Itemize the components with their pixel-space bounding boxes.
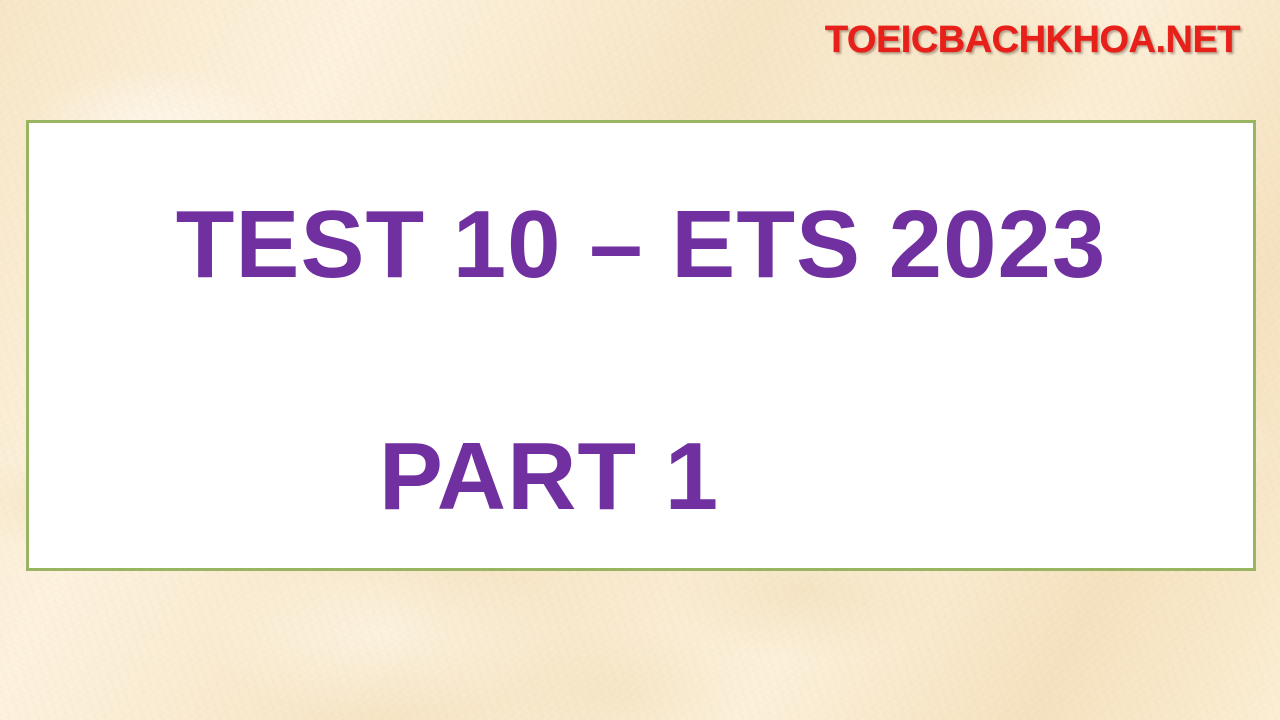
content-panel: TEST 10 – ETS 2023 PART 1 (26, 120, 1256, 571)
slide-subtitle: PART 1 (29, 429, 1253, 525)
site-watermark: TOEICBACHKHOA.NET (825, 21, 1240, 59)
slide-canvas: TOEICBACHKHOA.NET TEST 10 – ETS 2023 PAR… (0, 0, 1280, 720)
slide-title: TEST 10 – ETS 2023 (29, 197, 1253, 293)
